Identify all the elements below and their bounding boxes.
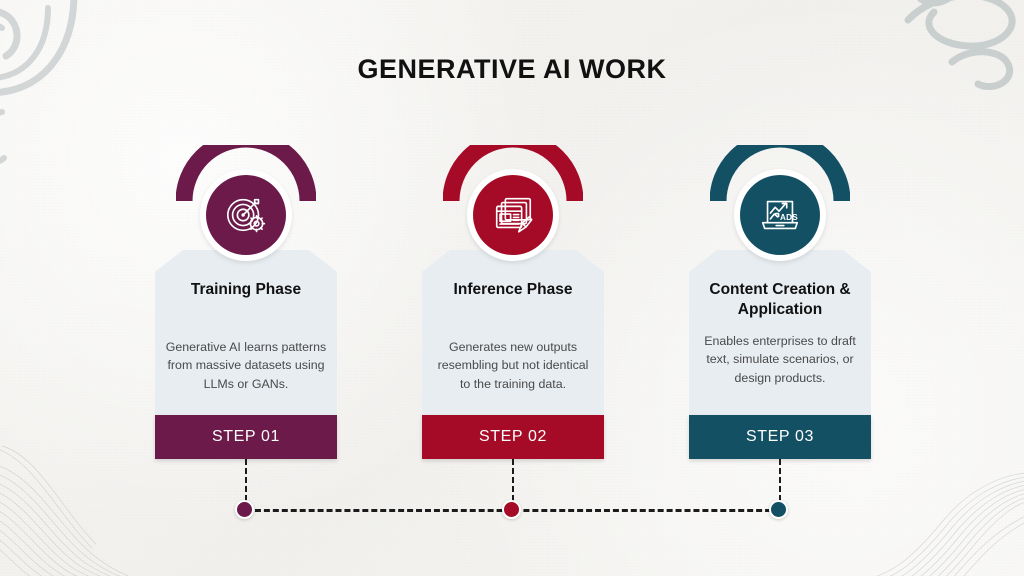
step-3-body: Content Creation & Application Enables e…	[689, 250, 871, 415]
step-2-title: Inference Phase	[430, 280, 596, 300]
timeline-dot-2	[502, 500, 521, 519]
step-3-head: ADS	[689, 145, 871, 261]
step-1-label: STEP 01	[212, 428, 280, 446]
step-card-1[interactable]: Training Phase Generative AI learns patt…	[155, 145, 337, 261]
timeline-dot-3	[769, 500, 788, 519]
step-3-title: Content Creation & Application	[697, 280, 863, 320]
step-1-title: Training Phase	[163, 280, 329, 300]
steps-container: Training Phase Generative AI learns patt…	[0, 145, 1024, 465]
timeline-connector	[0, 459, 1024, 529]
step-1-body: Training Phase Generative AI learns patt…	[155, 250, 337, 415]
step-3-label-bar[interactable]: STEP 03	[689, 415, 871, 459]
svg-text:ADS: ADS	[780, 213, 798, 222]
timeline-dot-1	[235, 500, 254, 519]
step-2-description: Generates new outputs resembling but not…	[432, 338, 594, 393]
laptop-ads-chart-icon: ADS	[757, 192, 803, 238]
step-3-label: STEP 03	[746, 428, 814, 446]
target-gear-icon	[223, 192, 269, 238]
step-2-label: STEP 02	[479, 428, 547, 446]
documents-pencil-icon	[490, 192, 536, 238]
step-1-description: Generative AI learns patterns from massi…	[165, 338, 327, 393]
step-2-body: Inference Phase Generates new outputs re…	[422, 250, 604, 415]
step-2-icon-circle	[467, 169, 559, 261]
timeline-drop-1	[245, 459, 247, 501]
step-2-head	[422, 145, 604, 261]
timeline-drop-3	[779, 459, 781, 501]
step-card-2[interactable]: Inference Phase Generates new outputs re…	[422, 145, 604, 261]
step-3-icon-circle: ADS	[734, 169, 826, 261]
step-2-label-bar[interactable]: STEP 02	[422, 415, 604, 459]
step-card-3[interactable]: ADS Content Creation & Application Enabl…	[689, 145, 871, 261]
step-3-description: Enables enterprises to draft text, simul…	[699, 332, 861, 387]
step-1-icon-circle	[200, 169, 292, 261]
step-1-label-bar[interactable]: STEP 01	[155, 415, 337, 459]
step-1-head	[155, 145, 337, 261]
page-title: GENERATIVE AI WORK	[0, 54, 1024, 85]
timeline-drop-2	[512, 459, 514, 501]
